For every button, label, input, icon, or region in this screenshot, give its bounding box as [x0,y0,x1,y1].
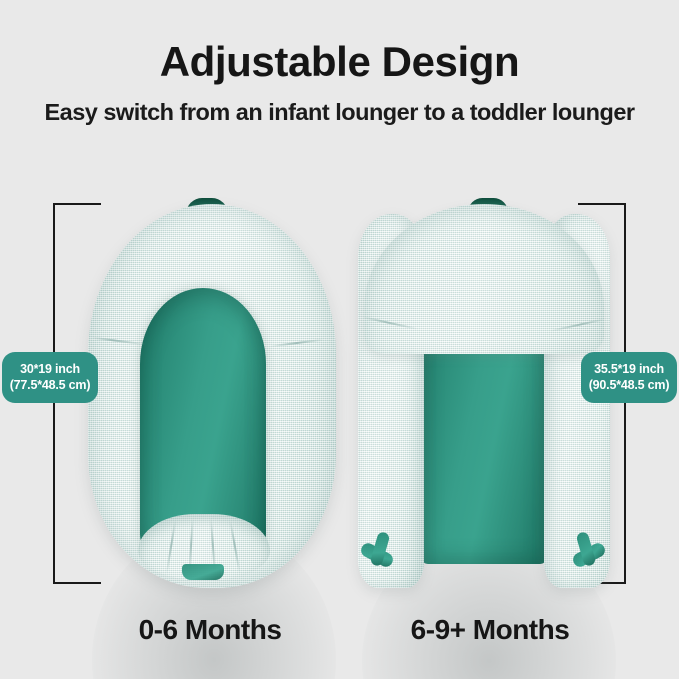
size-badge-infant: 30*19 inch (77.5*48.5 cm) [2,352,98,403]
product-image-toddler-lounger [358,196,620,596]
size-badge-metric: (77.5*48.5 cm) [10,378,91,392]
caption-toddler-age: 6-9+ Months [350,614,630,646]
product-infographic: Adjustable Design Easy switch from an in… [0,0,679,679]
size-badge-inches: 35.5*19 inch [594,362,664,376]
caption-infant-age: 0-6 Months [70,614,350,646]
size-badge-inches: 30*19 inch [20,362,80,376]
size-badge-toddler: 35.5*19 inch (90.5*48.5 cm) [581,352,677,403]
page-title: Adjustable Design [0,38,679,86]
fabric-strap-icon [182,564,224,580]
page-subtitle: Easy switch from an infant lounger to a … [0,99,679,126]
product-image-infant-lounger [78,196,340,596]
size-badge-metric: (90.5*48.5 cm) [589,378,670,392]
